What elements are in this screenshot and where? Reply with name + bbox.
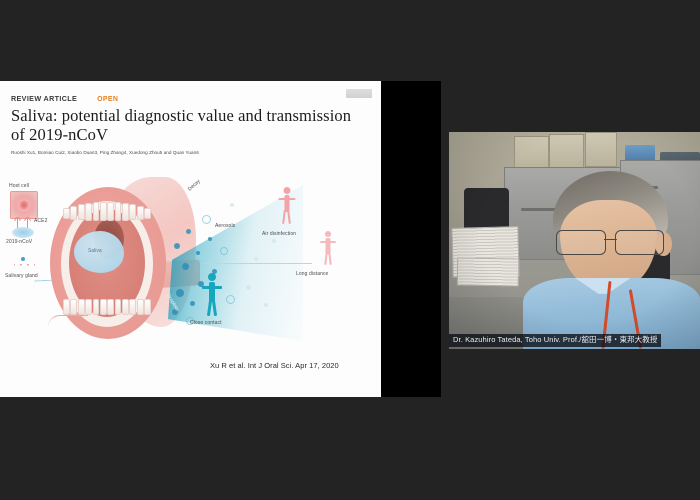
open-access-badge: OPEN [97, 96, 118, 103]
article-authors: Ruoshi Xu1, Bomiao Cui2, Xiaobo Duan3, P… [11, 149, 363, 156]
screen-share-stage: REVIEW ARTICLE OPEN Saliva: potential di… [0, 0, 700, 500]
figure-label-saliva: Saliva [88, 248, 102, 254]
figure-label-2019-ncov: 2019-nCoV [6, 239, 32, 245]
figure-label-close-contact: Close contact [190, 320, 222, 326]
salivary-gland-illustration [13, 264, 35, 271]
figure-person-long-distance [320, 231, 336, 267]
figure-label-ace2: ACE2 [34, 218, 47, 224]
figure-label-host-cell: Host cell [9, 183, 29, 189]
article-type-label: REVIEW ARTICLE [11, 94, 77, 103]
figure-label-air-disinfection: Air disinfection [262, 231, 296, 237]
participant-name-label: Dr. Kazuhiro Tateda, Toho Univ. Prof./舘田… [449, 334, 661, 347]
video-feed [449, 132, 700, 349]
share-background-filler [381, 81, 441, 397]
article-figure: Host cell ACE2 2019-nCoV Salivary gland [0, 175, 381, 355]
figure-label-aerosols: Aerosols [215, 223, 235, 229]
article-authors-text: Ruoshi Xu1, Bomiao Cui2, Xiaobo Duan3, P… [11, 150, 199, 155]
participant-video-tile[interactable]: Dr. Kazuhiro Tateda, Toho Univ. Prof./舘田… [449, 132, 700, 349]
virus-dot-icon [21, 257, 25, 261]
figure-label-long-distance: Long distance [296, 271, 328, 277]
long-distance-leader-line [204, 263, 312, 264]
slide-citation: Xu R et al. Int J Oral Sci. Apr 17, 2020 [210, 361, 339, 370]
bottom-letterbox-bar [0, 397, 700, 500]
virus-particle-illustration [12, 227, 34, 238]
figure-person-air-disinfection [278, 187, 295, 225]
figure-person-close-contact [202, 273, 222, 317]
figure-label-salivary-gland: Salivary gland [5, 273, 38, 279]
article-title: Saliva: potential diagnostic value and t… [11, 106, 363, 144]
top-letterbox-bar [0, 0, 700, 81]
article-kicker-row: REVIEW ARTICLE OPEN [11, 94, 118, 103]
host-cell-illustration [10, 191, 38, 219]
eyeglasses-icon [556, 230, 664, 253]
shared-screen-slide[interactable]: REVIEW ARTICLE OPEN Saliva: potential di… [0, 81, 381, 397]
journal-logo-icon [346, 89, 372, 98]
participant-figure [519, 171, 700, 349]
